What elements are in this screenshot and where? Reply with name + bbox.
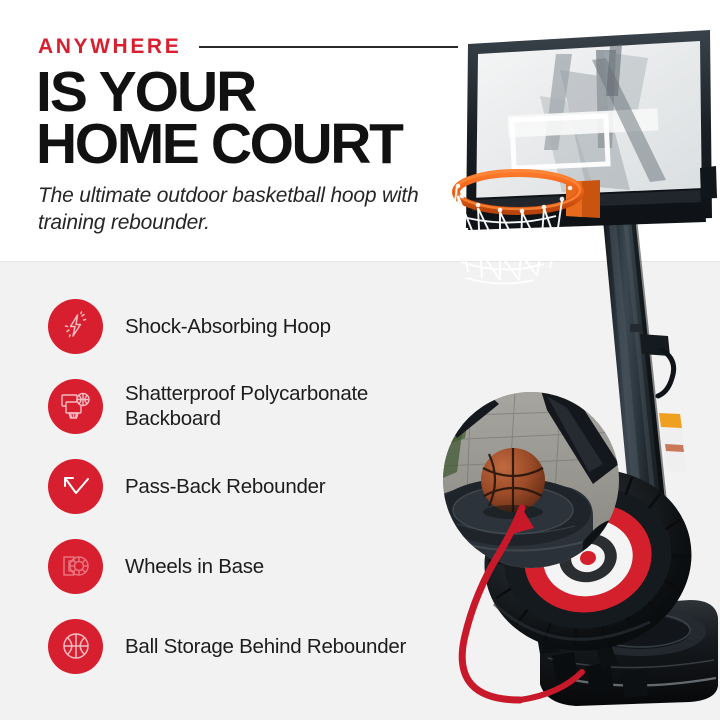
lightning-bolt-icon <box>48 299 103 354</box>
ball-storage-inset-photo <box>443 392 619 568</box>
wheel-caster-icon <box>48 539 103 594</box>
feature-label: Shatterproof Polycarbonate Backboard <box>125 381 455 431</box>
feature-item-ball-storage: Ball Storage Behind Rebounder <box>48 606 468 686</box>
subheadline: The ultimate outdoor basketball hoop wit… <box>38 182 438 236</box>
eyebrow-rule <box>199 46 458 47</box>
backboard-hoop-ball-icon <box>48 379 103 434</box>
feature-label: Shock-Absorbing Hoop <box>125 314 331 339</box>
basketball-icon <box>48 619 103 674</box>
feature-label: Wheels in Base <box>125 554 264 579</box>
infographic-root: ANYWHERE IS YOUR HOME COURT The ultimate… <box>0 0 720 720</box>
eyebrow-text: ANYWHERE <box>38 36 181 58</box>
feature-item-shock-absorbing-hoop: Shock-Absorbing Hoop <box>48 286 468 366</box>
inset-scene <box>443 392 619 568</box>
feature-item-wheels-in-base: Wheels in Base <box>48 526 468 606</box>
feature-list: Shock-Absorbing Hoop Shatterproof Polyca… <box>48 286 468 686</box>
headline-line-2: HOME COURT <box>36 118 516 170</box>
feature-label: Ball Storage Behind Rebounder <box>125 634 406 659</box>
feature-label: Pass-Back Rebounder <box>125 474 325 499</box>
band-divider-rule <box>0 261 720 262</box>
rebound-arrow-icon <box>48 459 103 514</box>
eyebrow-row: ANYWHERE <box>38 36 458 58</box>
page-title: IS YOUR HOME COURT <box>36 66 516 170</box>
feature-item-pass-back-rebounder: Pass-Back Rebounder <box>48 446 468 526</box>
feature-item-shatterproof-backboard: Shatterproof Polycarbonate Backboard <box>48 366 468 446</box>
